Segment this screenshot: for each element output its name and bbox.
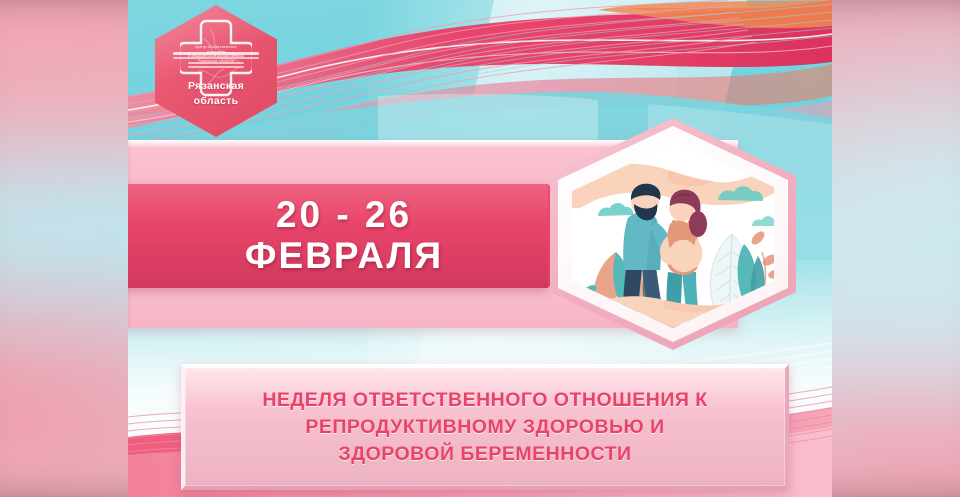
- campaign-title-banner: НЕДЕЛЯ ОТВЕТСТВЕННОГО ОТНОШЕНИЯ К РЕПРОД…: [181, 364, 789, 490]
- campaign-title-line-3: ЗДОРОВОЙ БЕРЕМЕННОСТИ: [338, 441, 631, 468]
- illustration-hexagon-inner-frame: [558, 126, 788, 342]
- logo-wordmark-lines: [173, 49, 259, 71]
- poster-stage: Центр Общественного Здоровья и медицинск…: [0, 0, 960, 497]
- logo-region-name: Рязанская область: [155, 79, 277, 109]
- hands-cradling-pregnant-couple-illustration: [572, 140, 774, 328]
- campaign-title-line-2: РЕПРОДУКТИВНОМУ ЗДОРОВЬЮ И: [305, 414, 664, 441]
- poster-artwork: Центр Общественного Здоровья и медицинск…: [128, 0, 832, 497]
- campaign-title-text: НЕДЕЛЯ ОТВЕТСТВЕННОГО ОТНОШЕНИЯ К РЕПРОД…: [185, 368, 785, 486]
- date-banner-inner: [128, 184, 548, 288]
- date-banner-sheen: [128, 184, 548, 288]
- campaign-title-line-1: НЕДЕЛЯ ОТВЕТСТВЕННОГО ОТНОШЕНИЯ К: [262, 387, 707, 414]
